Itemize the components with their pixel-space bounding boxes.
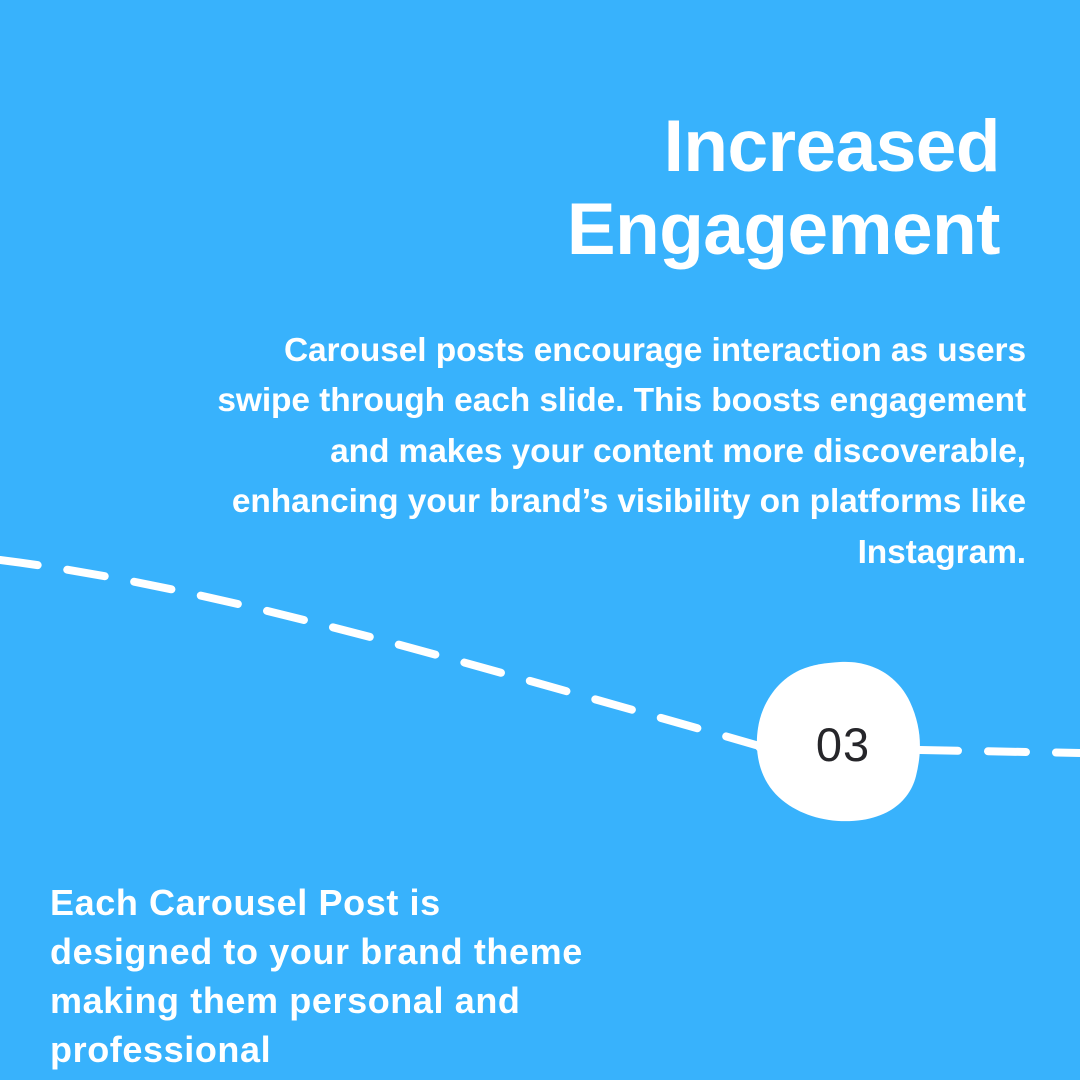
step-number-badge: 03 (752, 658, 924, 824)
connector-left-segment (0, 560, 775, 751)
body-paragraph: Carousel posts encourage interaction as … (76, 326, 1026, 579)
step-number-label: 03 (752, 658, 924, 824)
carousel-slide: Increased Engagement Carousel posts enco… (0, 0, 1080, 1080)
page-title: Increased Engagement (140, 105, 1000, 271)
bottom-caption: Each Carousel Post is designed to your b… (50, 878, 790, 1074)
connector-right-segment (920, 750, 1080, 753)
